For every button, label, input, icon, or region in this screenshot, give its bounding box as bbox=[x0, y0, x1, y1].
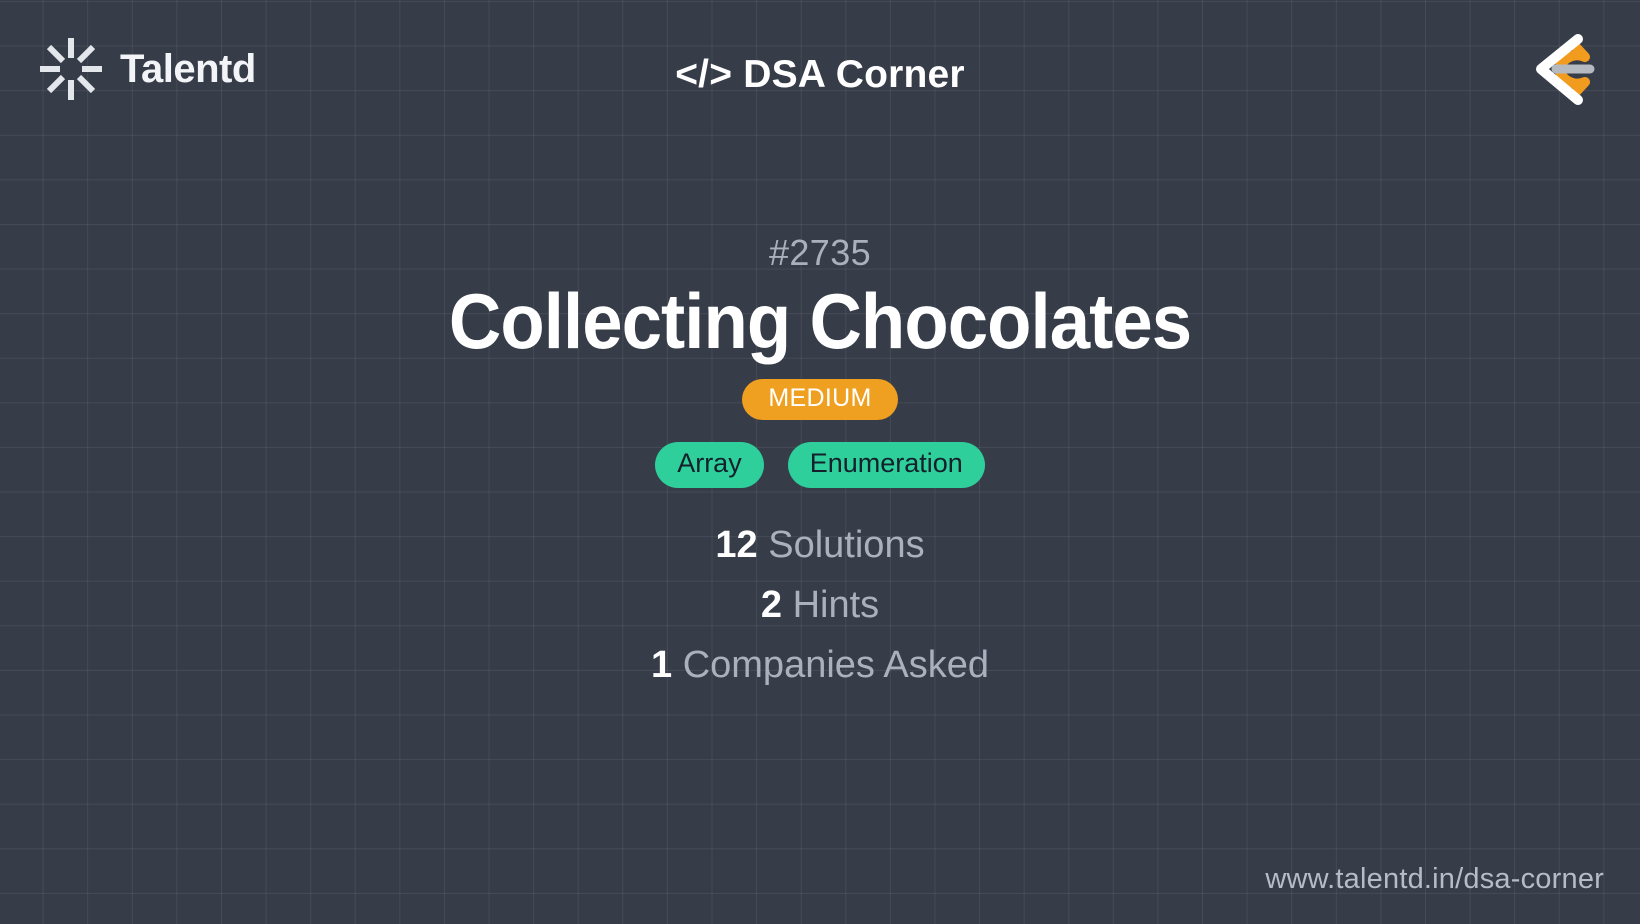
tag-chip[interactable]: Array bbox=[655, 442, 764, 488]
leetcode-logo-icon bbox=[1518, 28, 1602, 112]
difficulty-badge: MEDIUM bbox=[742, 379, 897, 420]
problem-title: Collecting Chocolates bbox=[449, 279, 1191, 365]
problem-number: #2735 bbox=[769, 232, 871, 273]
problem-summary: #2735 Collecting Chocolates MEDIUM Array… bbox=[0, 232, 1640, 687]
stat-label: Hints bbox=[793, 584, 880, 626]
card-header: Talentd </> DSA Corner bbox=[0, 0, 1640, 155]
stat-label: Companies Asked bbox=[683, 644, 989, 686]
stat-row-companies: 1 Companies Asked bbox=[651, 644, 989, 688]
stat-value: 12 bbox=[715, 524, 757, 566]
stats-list: 12 Solutions 2 Hints 1 Companies Asked bbox=[651, 524, 989, 687]
stat-value: 1 bbox=[651, 644, 672, 686]
tag-list: Array Enumeration bbox=[655, 442, 985, 488]
tag-chip[interactable]: Enumeration bbox=[788, 442, 985, 488]
stat-row-hints: 2 Hints bbox=[761, 584, 879, 628]
stat-value: 2 bbox=[761, 584, 782, 626]
dsa-corner-card: Talentd </> DSA Corner #2735 Collecting … bbox=[0, 0, 1640, 924]
stat-row-solutions: 12 Solutions bbox=[715, 524, 924, 568]
stat-label: Solutions bbox=[768, 524, 924, 566]
footer-url[interactable]: www.talentd.in/dsa-corner bbox=[1265, 863, 1604, 896]
page-title: </> DSA Corner bbox=[0, 53, 1640, 97]
